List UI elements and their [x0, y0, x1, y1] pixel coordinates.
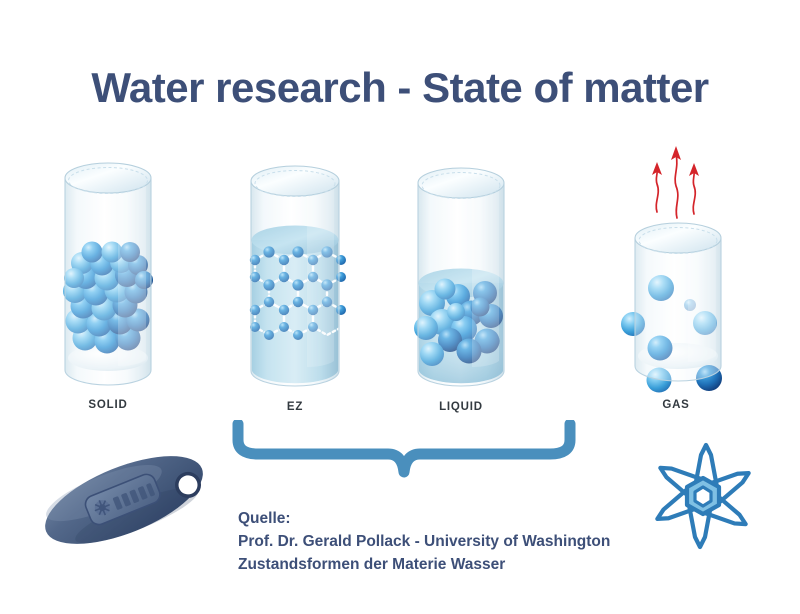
beaker-label-solid: SOLID [58, 399, 158, 411]
source-block: Quelle: Prof. Dr. Gerald Pollack - Unive… [238, 508, 610, 576]
snowflake-icon [643, 437, 763, 560]
grouping-brace [228, 420, 580, 487]
beaker-label-ez: EZ [245, 401, 345, 413]
evaporation-arrows [656, 154, 695, 218]
beaker-gas [630, 140, 726, 398]
beaker-label-gas: GAS [628, 399, 724, 411]
source-line-3: Zustandsformen der Materie Wasser [238, 554, 610, 577]
source-line-1: Quelle: [238, 508, 610, 531]
slide-canvas: Water research - State of matter [0, 0, 800, 614]
page-title: Water research - State of matter [0, 64, 800, 112]
pendant-device [34, 424, 214, 581]
beaker-solid [58, 160, 158, 398]
beaker-label-liquid: LIQUID [412, 401, 510, 413]
beaker-ez [245, 163, 345, 399]
source-line-2: Prof. Dr. Gerald Pollack - University of… [238, 531, 610, 554]
beaker-liquid [412, 165, 510, 399]
